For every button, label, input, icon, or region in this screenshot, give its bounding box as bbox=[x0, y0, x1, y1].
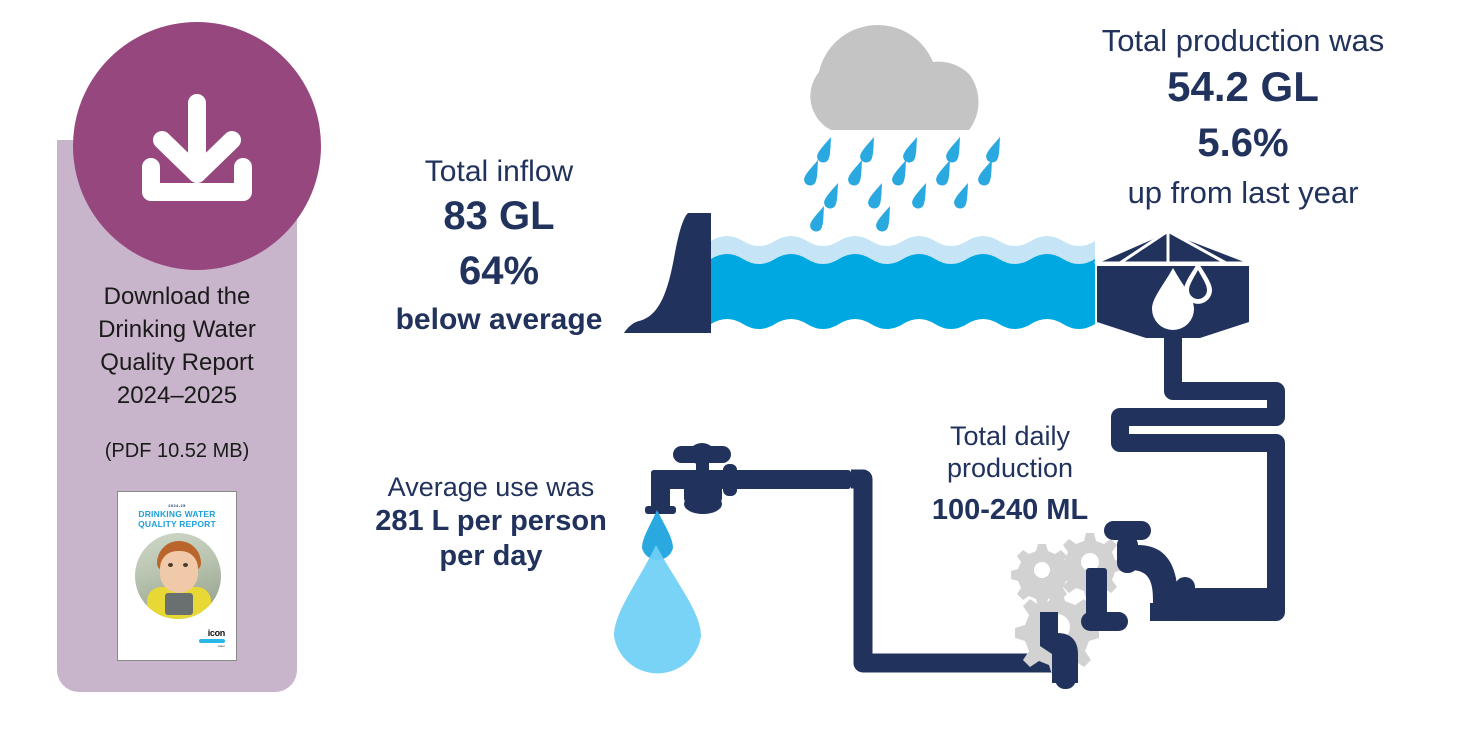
reservoir-water-icon bbox=[711, 236, 1095, 329]
tap-faucet-icon bbox=[645, 443, 851, 514]
dam-wall-icon bbox=[624, 213, 711, 333]
water-treatment-plant-icon bbox=[1095, 231, 1251, 338]
raindrops-icon bbox=[802, 135, 1005, 234]
water-droplets-icon bbox=[614, 510, 701, 673]
infographic-canvas: Download the Drinking Water Quality Repo… bbox=[0, 0, 1459, 730]
water-cycle-illustration bbox=[0, 0, 1459, 730]
rain-cloud-icon bbox=[810, 25, 978, 130]
